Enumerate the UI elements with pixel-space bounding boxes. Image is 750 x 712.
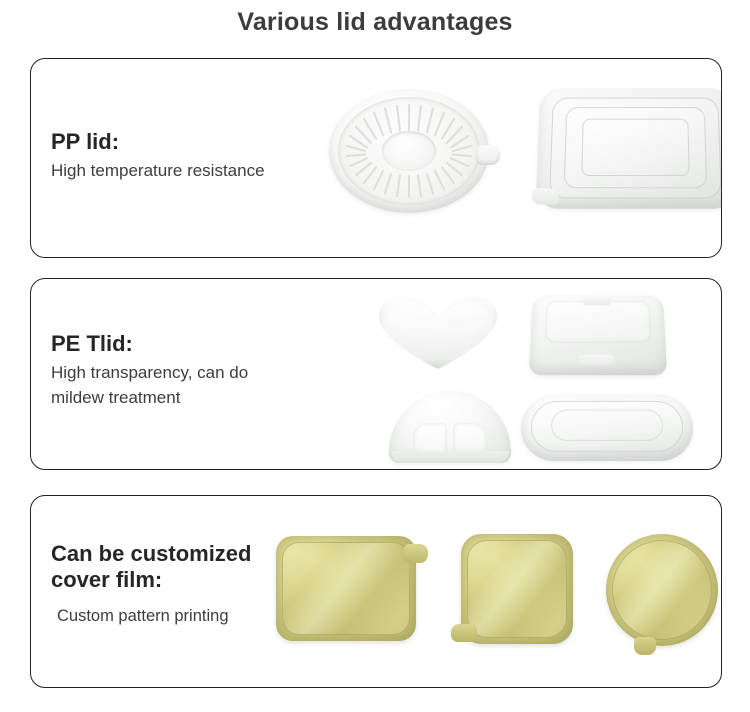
gold-round-sheen (612, 540, 712, 640)
square-pe-lid-image (529, 295, 667, 375)
heart-pe-lid-image (379, 295, 497, 369)
panel-pp-text-block: PP lid: High temperature resistance (51, 129, 265, 184)
square-lid-notch-top (583, 297, 610, 305)
panel-pe-description: High transparency, can do mildew treatme… (51, 361, 248, 410)
rectangular-pp-lid-image (535, 88, 722, 209)
panel-cover-film-description: Custom pattern printing (51, 597, 251, 629)
panel-pe-heading: PE Tlid: (51, 331, 248, 357)
panel-pe-lid: PE Tlid: High transparency, can do milde… (30, 278, 722, 470)
oval-pe-lid-image (519, 394, 694, 461)
gold-square-tab (451, 624, 477, 642)
round-lid-ribs-icon (329, 89, 489, 213)
rect-lid-ridge-outer (549, 98, 722, 199)
panel-pp-lid: PP lid: High temperature resistance (30, 58, 722, 258)
dome-pe-lid-image (389, 391, 511, 463)
rect-lid-ridge-inner (581, 119, 689, 176)
dome-lid-facet-right (453, 423, 487, 457)
oval-lid-ridge-outer (530, 401, 684, 452)
panel-cover-film-heading: Can be customized cover film: (51, 541, 251, 593)
page-title: Various lid advantages (0, 8, 750, 37)
dome-lid-facet-left (413, 423, 447, 457)
round-pp-lid-image (329, 89, 489, 213)
square-lid-notch-front (579, 355, 614, 365)
gold-round-foil-lid-image (606, 534, 718, 646)
round-lid-tab (476, 145, 500, 165)
gold-square-sheen (467, 540, 567, 638)
panel-cover-film: Can be customized cover film: Custom pat… (30, 495, 722, 688)
panel-pp-heading: PP lid: (51, 129, 265, 155)
gold-rect-sheen (282, 542, 410, 635)
gold-round-tab (634, 637, 656, 655)
round-lid-rim (338, 97, 480, 205)
rect-lid-ridge-middle (564, 107, 707, 188)
rect-lid-corner-flap (532, 188, 559, 204)
gold-square-foil-lid-image (461, 534, 573, 644)
panel-cover-film-text-block: Can be customized cover film: Custom pat… (51, 541, 251, 629)
panel-pp-description: High temperature resistance (51, 159, 265, 184)
oval-lid-ridge-inner (551, 410, 664, 441)
gold-rectangular-foil-lid-image (276, 536, 416, 641)
heart-lid-body (379, 295, 497, 369)
dome-lid-base-rim (391, 451, 509, 463)
panel-pe-text-block: PE Tlid: High transparency, can do milde… (51, 331, 248, 410)
heart-lid-rim (388, 302, 488, 354)
gold-rect-tab (404, 544, 428, 563)
square-lid-top-face (545, 301, 652, 343)
round-lid-center-hub (382, 131, 436, 171)
